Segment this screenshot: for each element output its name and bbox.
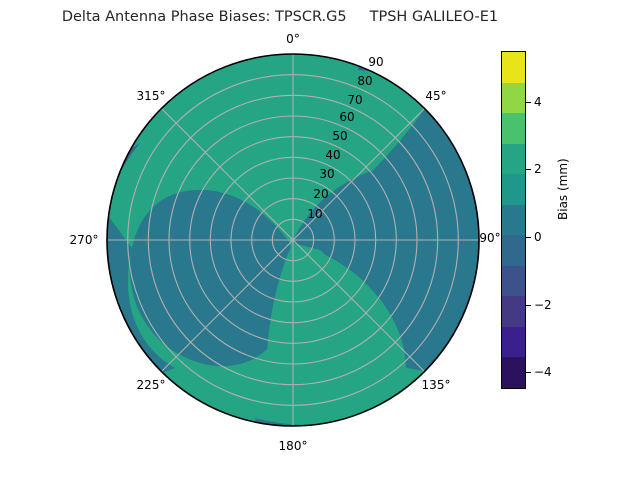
colorbar-band-0 bbox=[502, 52, 525, 83]
theta-tick-180: 180° bbox=[279, 439, 308, 453]
theta-tick-90: 90° bbox=[479, 231, 500, 245]
figure-canvas: Delta Antenna Phase Biases: TPSCR.G5 TPS… bbox=[0, 0, 640, 480]
theta-tick-45: 45° bbox=[425, 89, 446, 103]
theta-tick-270: 270° bbox=[70, 233, 99, 247]
r-tick-90: 90 bbox=[368, 55, 383, 69]
colorbar-band-10 bbox=[502, 357, 525, 388]
colorbar-band-1 bbox=[502, 83, 525, 114]
r-tick-20: 20 bbox=[313, 187, 328, 201]
colorbar-axis-label: Bias (mm) bbox=[556, 158, 570, 220]
colorbar-tick-label-neg2: −2 bbox=[534, 298, 552, 312]
colorbar-band-6 bbox=[502, 235, 525, 266]
colorbar-gradient bbox=[501, 51, 526, 389]
colorbar-band-9 bbox=[502, 327, 525, 358]
r-tick-10: 10 bbox=[307, 207, 322, 221]
r-tick-50: 50 bbox=[332, 129, 347, 143]
colorbar-band-4 bbox=[502, 174, 525, 205]
theta-tick-135: 135° bbox=[422, 378, 451, 392]
colorbar-tick-label-neg4: −4 bbox=[534, 365, 552, 379]
colorbar-tick-label-2: 2 bbox=[534, 162, 542, 176]
colorbar-band-8 bbox=[502, 296, 525, 327]
theta-tick-90-clip: 90° bbox=[478, 224, 501, 252]
r-tick-40: 40 bbox=[325, 148, 340, 162]
polar-grid-spokes bbox=[107, 54, 479, 426]
colorbar-tick-label-4: 4 bbox=[534, 95, 542, 109]
theta-tick-315: 315° bbox=[137, 89, 166, 103]
colorbar-band-5 bbox=[502, 205, 525, 236]
colorbar-band-2 bbox=[502, 113, 525, 144]
r-tick-60: 60 bbox=[339, 110, 354, 124]
colorbar-tick-4 bbox=[526, 102, 531, 103]
colorbar-tick-neg2 bbox=[526, 305, 531, 306]
r-tick-70: 70 bbox=[347, 93, 362, 107]
theta-tick-225: 225° bbox=[137, 378, 166, 392]
colorbar-tick-0 bbox=[526, 237, 531, 238]
colorbar-tick-neg4 bbox=[526, 372, 531, 373]
colorbar-tick-label-0: 0 bbox=[534, 230, 542, 244]
r-tick-30: 30 bbox=[319, 167, 334, 181]
colorbar-band-7 bbox=[502, 266, 525, 297]
colorbar-band-3 bbox=[502, 144, 525, 175]
colorbar: 4 2 0 −2 −4 bbox=[501, 51, 526, 389]
colorbar-tick-2 bbox=[526, 169, 531, 170]
r-tick-80: 80 bbox=[357, 74, 372, 88]
theta-tick-0: 0° bbox=[286, 32, 300, 46]
